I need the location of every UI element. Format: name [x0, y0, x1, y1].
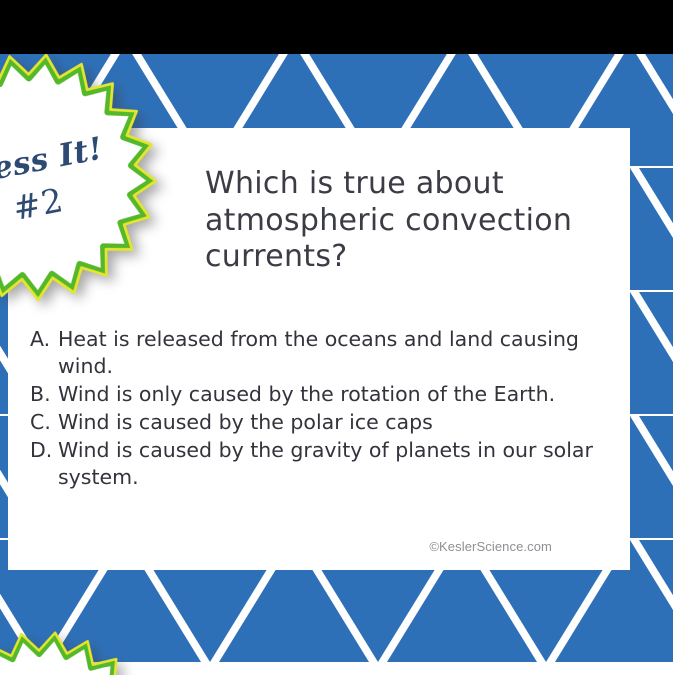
triangle-shape [639, 416, 673, 538]
answer-choice[interactable]: A. Heat is released from the oceans and … [30, 326, 626, 380]
choice-text: Wind is caused by the gravity of planets… [58, 437, 626, 491]
question-text: Which is true about atmospheric convecti… [205, 166, 605, 276]
choice-letter: D. [30, 437, 58, 464]
answer-choice[interactable]: D. Wind is caused by the gravity of plan… [30, 437, 626, 491]
triangle-shape [639, 168, 673, 290]
choice-text: Heat is released from the oceans and lan… [58, 326, 626, 380]
letterbox-bar-top [0, 0, 673, 54]
answer-choice[interactable]: C. Wind is caused by the polar ice caps [30, 409, 626, 436]
choice-letter: B. [30, 381, 58, 408]
choice-letter: C. [30, 409, 58, 436]
choice-text: Wind is only caused by the rotation of t… [58, 381, 626, 408]
answer-choice-list: A. Heat is released from the oceans and … [30, 326, 626, 492]
copyright-credit: ©KeslerScience.com [429, 539, 552, 554]
triangle-shape [639, 52, 673, 166]
triangle-shape [639, 540, 673, 662]
answer-choice[interactable]: B. Wind is only caused by the rotation o… [30, 381, 626, 408]
triangle-shape [639, 292, 673, 414]
slide-canvas: Which is true about atmospheric convecti… [0, 0, 673, 675]
choice-letter: A. [30, 326, 58, 353]
choice-text: Wind is caused by the polar ice caps [58, 409, 626, 436]
